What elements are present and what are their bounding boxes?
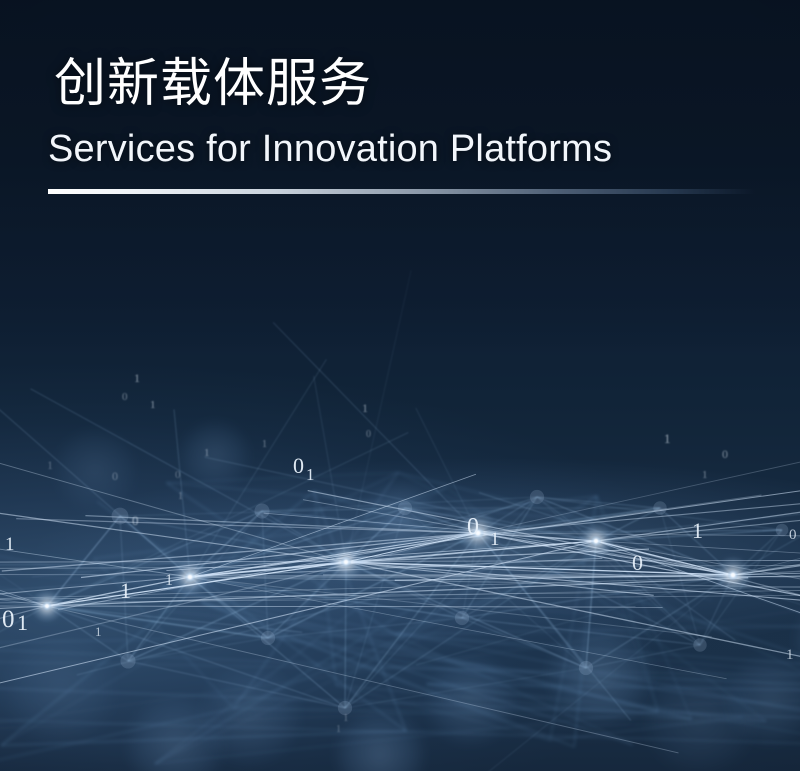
innovation-platform-banner: 0110111100101011011011010101111 创新载体服务 S… — [0, 0, 800, 771]
mesh-line — [733, 360, 800, 575]
node-dim-upper-a — [112, 508, 129, 525]
node-center-peak — [472, 527, 484, 539]
node-dim-lower-e — [579, 661, 593, 675]
node-dim-far-right — [776, 524, 789, 537]
mesh-line — [0, 606, 47, 714]
mesh-line — [1, 731, 406, 745]
mesh-line — [733, 411, 800, 575]
node-dim-lower-b — [261, 631, 275, 645]
node-dim-upper-b — [254, 503, 269, 518]
node-center-right — [591, 536, 602, 547]
page-title-english: Services for Innovation Platforms — [48, 128, 760, 171]
mesh-line — [31, 389, 346, 562]
node-dim-upper-e — [653, 501, 666, 514]
node-dim-upper-c — [398, 501, 412, 515]
node-left-edge — [42, 601, 52, 611]
mesh-line — [167, 483, 592, 521]
node-dim-upper-d — [530, 490, 544, 504]
node-left-main — [184, 571, 195, 582]
mesh-line — [346, 422, 800, 562]
mesh-line — [0, 458, 47, 606]
mesh-line — [0, 333, 190, 577]
mesh-line — [174, 409, 190, 577]
node-dim-lower-f — [693, 638, 706, 651]
mesh-line — [427, 684, 766, 721]
mesh-line — [398, 473, 592, 521]
node-right-main — [727, 569, 738, 580]
page-title-chinese: 创新载体服务 — [54, 56, 760, 112]
headline-divider — [48, 189, 755, 194]
node-mid-left — [340, 556, 351, 567]
headline-block: 创新载体服务 Services for Innovation Platforms — [48, 56, 760, 194]
mesh-line — [0, 661, 800, 677]
node-dim-lower-a — [120, 653, 135, 668]
mesh-line — [120, 516, 128, 661]
node-dim-lower-d — [455, 611, 469, 625]
node-dim-lower-c — [338, 701, 352, 715]
mesh-line — [346, 270, 411, 562]
